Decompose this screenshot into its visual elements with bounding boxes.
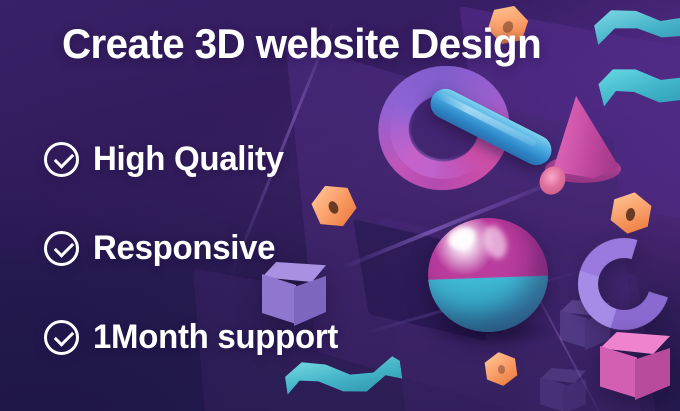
feature-item-high-quality: High Quality: [44, 126, 346, 192]
feature-item-responsive: Responsive: [44, 215, 346, 281]
banner-content: Create 3D website Design High Quality Re…: [0, 0, 680, 411]
check-circle-icon: [44, 320, 79, 355]
feature-label: Responsive: [93, 229, 275, 268]
feature-item-support: 1Month support: [44, 304, 346, 370]
feature-list: High Quality Responsive 1Month support: [44, 126, 346, 393]
banner-title: Create 3D website Design: [62, 20, 541, 68]
feature-label: High Quality: [93, 140, 284, 179]
check-circle-icon: [44, 142, 79, 177]
check-circle-icon: [44, 231, 79, 266]
feature-label: 1Month support: [93, 318, 338, 357]
promo-banner: Create 3D website Design High Quality Re…: [0, 0, 680, 411]
